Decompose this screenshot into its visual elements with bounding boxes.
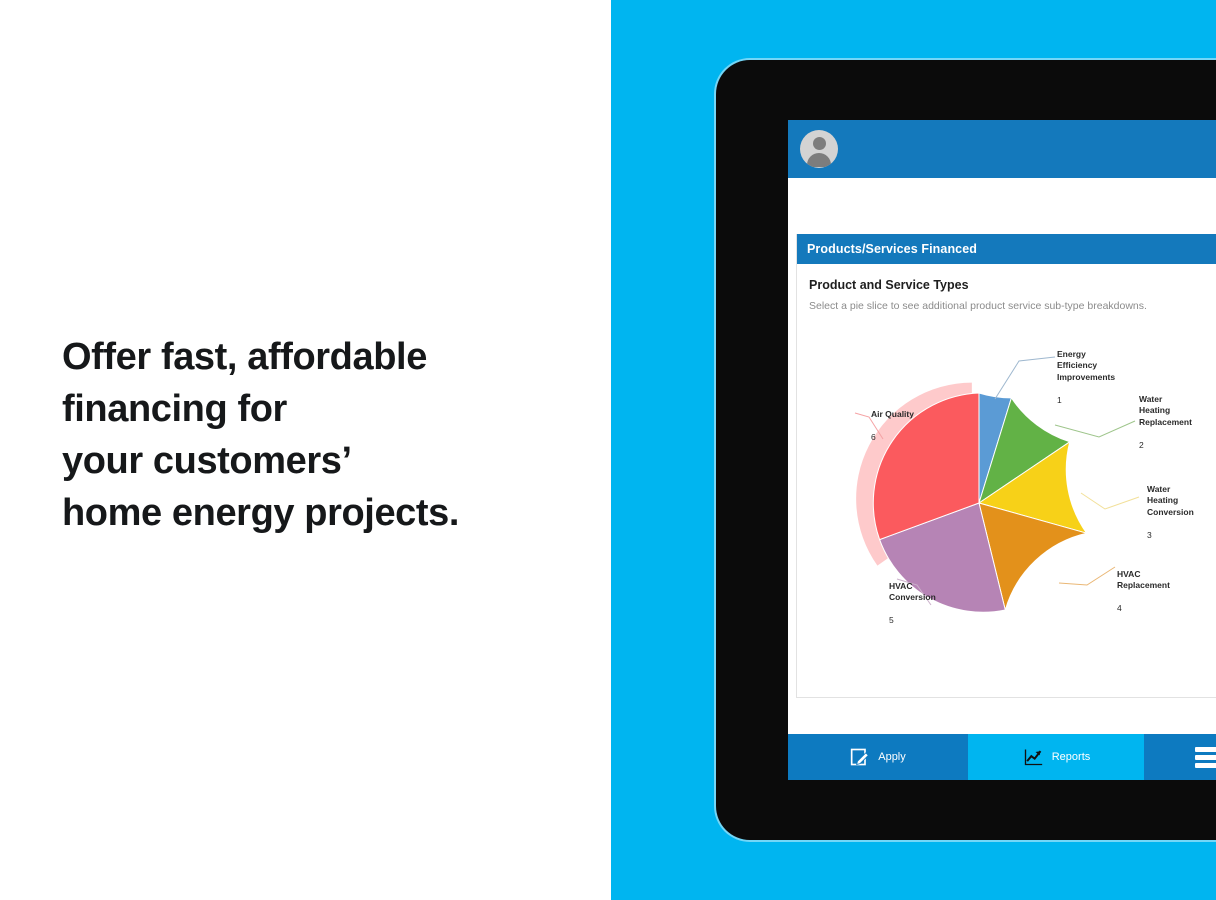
nav-item-apply[interactable]: Apply [788,734,968,780]
promo-panel: Offer fast, affordable financing for you… [0,0,611,900]
pie-label-text-water-heating-replacement: Water Heating Replacement [1139,394,1192,427]
pie-label-water-heating-conversion: Water Heating Conversion 3 [1147,472,1216,541]
leader-line-hvac-replacement [1059,567,1115,585]
pie-label-text-hvac-replacement: HVAC Replacement [1117,569,1170,591]
card-body: Product and Service Types Select a pie s… [797,264,1216,697]
pie-label-air-quality: Air Quality 6 [871,397,945,443]
edit-pencil-icon [850,747,870,767]
screenshot-root: Offer fast, affordable financing for you… [0,0,1216,900]
pie-value-air-quality: 6 [871,432,876,442]
pie-label-text-water-heating-conversion: Water Heating Conversion [1147,484,1194,517]
leader-line-water-heating-conversion [1081,493,1139,509]
user-avatar-icon[interactable] [800,130,838,168]
pie-chart-area: Energy Efficiency Improvements 1 Water H… [809,317,1216,689]
line-chart-icon [1022,747,1044,767]
tablet-screen: Rep Products/Services Financed Product a… [788,120,1216,780]
pie-label-water-heating-replacement: Water Heating Replacement 2 [1139,382,1213,451]
card-header-label: Products/Services Financed [797,234,1216,264]
pie-label-hvac-conversion: HVAC Conversion 5 [889,569,963,627]
leader-line-water-heating-replacement [1055,421,1135,437]
app-body: Products/Services Financed Product and S… [788,178,1216,780]
content-spacer [788,178,1216,234]
products-services-card: Products/Services Financed Product and S… [796,234,1216,698]
card-subtitle: Select a pie slice to see additional pro… [809,299,1216,313]
pie-label-text-air-quality: Air Quality [871,409,914,419]
nav-label-reports: Reports [1052,751,1091,763]
list-menu-icon [1195,747,1216,768]
app-header: Rep [788,120,1216,178]
leader-line-energy-efficiency [995,357,1055,399]
pie-value-hvac-conversion: 5 [889,615,894,625]
nav-label-apply: Apply [878,751,906,763]
pie-value-energy-efficiency: 1 [1057,395,1062,405]
pie-value-water-heating-conversion: 3 [1147,530,1152,540]
card-title: Product and Service Types [809,278,1216,292]
pie-value-hvac-replacement: 4 [1117,603,1122,613]
tablet-device-frame: Rep Products/Services Financed Product a… [716,60,1216,840]
pie-label-hvac-replacement: HVAC Replacement 4 [1117,557,1191,615]
pie-value-water-heating-replacement: 2 [1139,440,1144,450]
pie-label-energy-efficiency-improvements: Energy Efficiency Improvements 1 [1057,337,1131,406]
bottom-navigation: Apply Reports [788,734,1216,780]
promo-headline: Offer fast, affordable financing for you… [62,331,582,539]
nav-item-more[interactable] [1144,734,1216,780]
pie-label-text-hvac-conversion: HVAC Conversion [889,581,936,603]
pie-label-text-energy-efficiency: Energy Efficiency Improvements [1057,349,1115,382]
nav-item-reports[interactable]: Reports [968,734,1144,780]
